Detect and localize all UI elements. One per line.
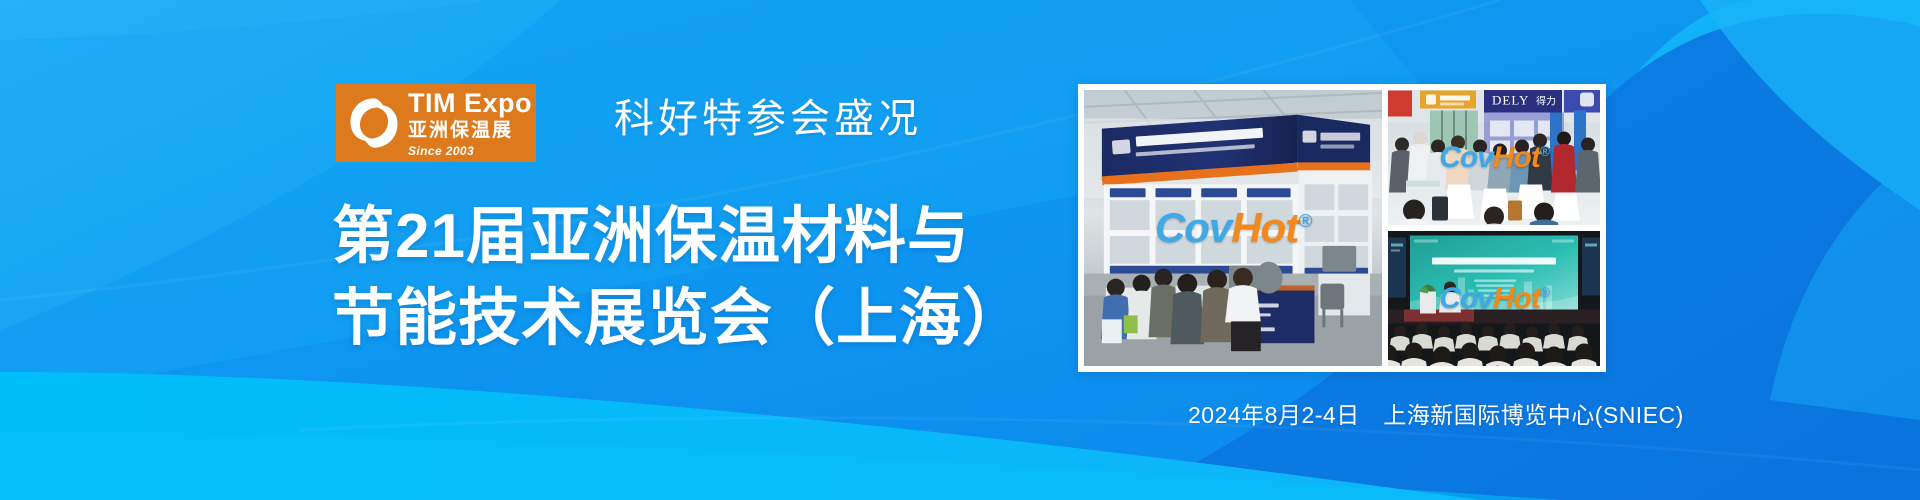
headline-line-1: 第21届亚洲保温材料与 <box>332 196 1025 278</box>
logo-since-text: Since 2003 <box>408 145 532 157</box>
logo-text-block: TIM Expo 亚洲保温展 Since 2003 <box>408 90 532 157</box>
forum-photo: CovHot® <box>1388 231 1600 366</box>
svg-text:得力: 得力 <box>1536 95 1556 108</box>
collage-left-column: CovHot® <box>1084 90 1382 366</box>
headline-line-2: 节能技术展览会（上海） <box>332 278 1025 360</box>
photo-collage: CovHot® <box>1078 84 1606 372</box>
hall-crowd-photo: DELY 得力 <box>1388 90 1600 225</box>
page-title: 第21届亚洲保温材料与 节能技术展览会（上海） <box>332 196 1025 360</box>
expo-banner: TIM Expo 亚洲保温展 Since 2003 科好特参会盛况 第21届亚洲… <box>0 0 1920 500</box>
logo-subtitle: 亚洲保温展 <box>408 121 532 140</box>
booth-photo: CovHot® <box>1084 90 1382 366</box>
venue-date-text: 2024年8月2-4日 上海新国际博览中心(SNIEC) <box>1188 396 1684 430</box>
collage-right-column: DELY 得力 <box>1388 90 1600 366</box>
tim-expo-swoosh-icon <box>346 95 402 151</box>
logo-title: TIM Expo <box>408 90 532 117</box>
svg-text:DELY: DELY <box>1492 93 1529 108</box>
tim-expo-logo[interactable]: TIM Expo 亚洲保温展 Since 2003 <box>336 84 536 162</box>
kicker-text: 科好特参会盛况 <box>614 86 922 144</box>
